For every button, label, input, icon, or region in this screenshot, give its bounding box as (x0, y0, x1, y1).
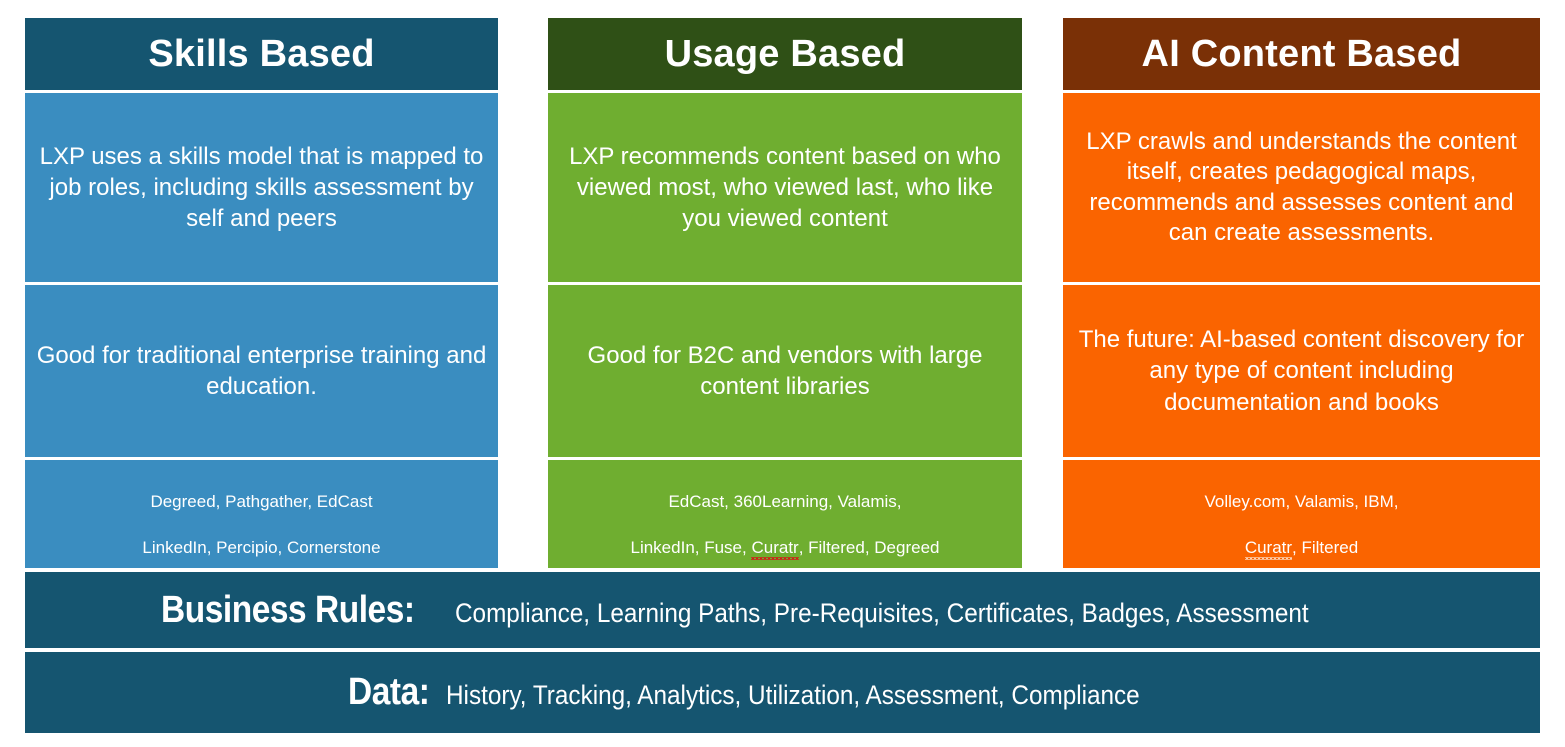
data-label: Data: (348, 671, 429, 714)
spellcheck-underlined-word: Curatr (1245, 538, 1292, 557)
business-rules-bar: Business Rules: Compliance, Learning Pat… (25, 572, 1540, 648)
cell-text: Good for traditional enterprise training… (25, 340, 498, 402)
column-usage-based: Usage Based LXP recommends content based… (548, 18, 1022, 568)
vendor-line-1: EdCast, 360Learning, Valamis, (668, 492, 901, 511)
cell-text: Good for B2C and vendors with large cont… (548, 340, 1022, 402)
cell-text: Volley.com, Valamis, IBM, Curatr, Filter… (1063, 468, 1540, 560)
lxp-comparison-diagram: Skills Based LXP uses a skills model tha… (0, 0, 1565, 747)
cell-ai-content-based-best-fit: The future: AI-based content discovery f… (1063, 285, 1540, 457)
data-content: Data: History, Tracking, Analytics, Util… (348, 671, 1217, 714)
business-rules-items: Compliance, Learning Paths, Pre-Requisit… (455, 598, 1309, 629)
column-skills-based: Skills Based LXP uses a skills model tha… (25, 18, 498, 568)
business-rules-label: Business Rules: (161, 589, 415, 632)
column-header-skills-based: Skills Based (25, 18, 498, 90)
column-header-usage-based: Usage Based (548, 18, 1022, 90)
cell-ai-content-based-vendors: Volley.com, Valamis, IBM, Curatr, Filter… (1063, 460, 1540, 568)
vendor-line-2: LinkedIn, Percipio, Cornerstone (142, 538, 380, 557)
cell-text: LXP crawls and understands the content i… (1063, 127, 1540, 249)
cell-ai-content-based-description: LXP crawls and understands the content i… (1063, 93, 1540, 282)
data-bar: Data: History, Tracking, Analytics, Util… (25, 652, 1540, 733)
vendor-line-2-pre: LinkedIn, Fuse, (631, 538, 752, 557)
cell-usage-based-best-fit: Good for B2C and vendors with large cont… (548, 285, 1022, 457)
cell-skills-based-vendors: Degreed, Pathgather, EdCast LinkedIn, Pe… (25, 460, 498, 568)
spellcheck-underlined-word: Curatr (751, 538, 798, 557)
vendor-line-2-post: , Filtered (1292, 538, 1358, 557)
cell-text: EdCast, 360Learning, Valamis, LinkedIn, … (548, 468, 1022, 560)
business-rules-content: Business Rules: Compliance, Learning Pat… (161, 589, 1404, 632)
cell-usage-based-vendors: EdCast, 360Learning, Valamis, LinkedIn, … (548, 460, 1022, 568)
cell-text: Degreed, Pathgather, EdCast LinkedIn, Pe… (25, 468, 498, 560)
vendor-line-1: Degreed, Pathgather, EdCast (150, 492, 372, 511)
cell-skills-based-description: LXP uses a skills model that is mapped t… (25, 93, 498, 282)
cell-text: LXP uses a skills model that is mapped t… (25, 141, 498, 235)
cell-usage-based-description: LXP recommends content based on who view… (548, 93, 1022, 282)
column-header-ai-content-based: AI Content Based (1063, 18, 1540, 90)
vendor-line-2-post: , Filtered, Degreed (799, 538, 940, 557)
cell-text: LXP recommends content based on who view… (548, 141, 1022, 235)
data-items: History, Tracking, Analytics, Utilizatio… (446, 680, 1140, 711)
cell-skills-based-best-fit: Good for traditional enterprise training… (25, 285, 498, 457)
column-ai-content-based: AI Content Based LXP crawls and understa… (1063, 18, 1540, 568)
cell-text: The future: AI-based content discovery f… (1063, 324, 1540, 418)
vendor-line-1: Volley.com, Valamis, IBM, (1205, 492, 1399, 511)
